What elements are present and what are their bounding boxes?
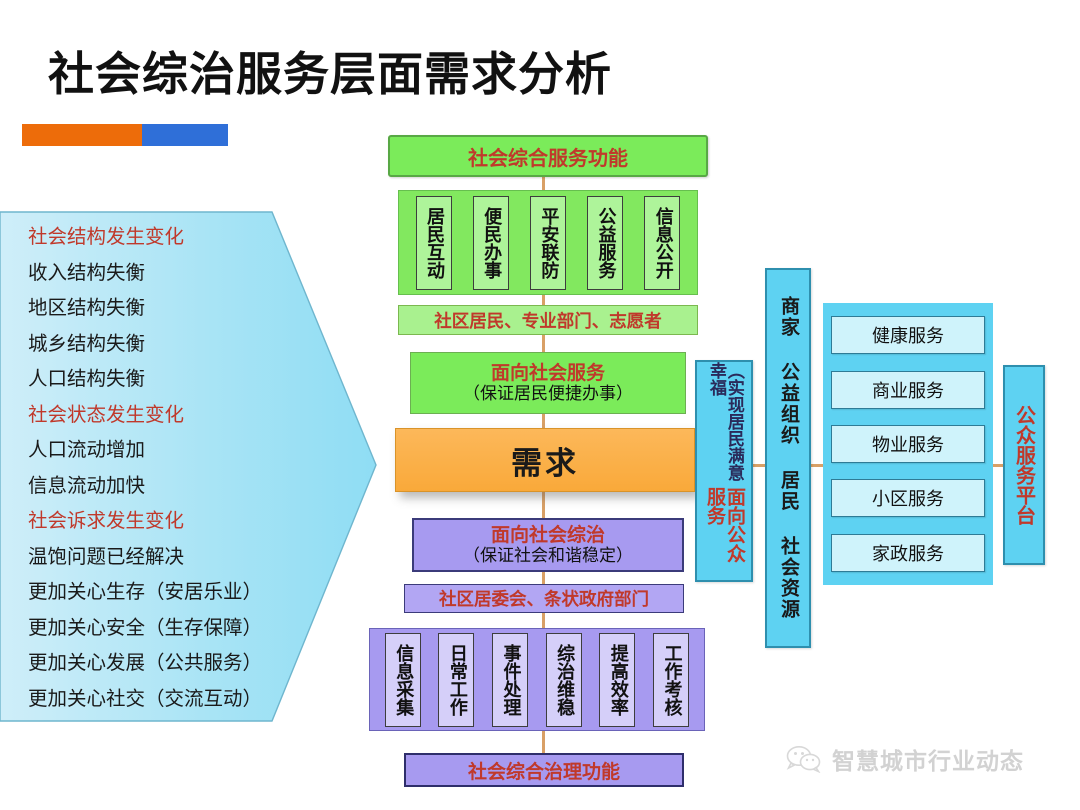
list-item: 社会结构发生变化 bbox=[28, 219, 318, 255]
governance-cells-strip: 信息采集 日常工作 事件处理 综治维稳 提高效率 工作考核 bbox=[369, 628, 705, 731]
governance-cell: 事件处理 bbox=[492, 633, 528, 727]
social-resources-column: 商家 公益组织 居民 社会资源 bbox=[765, 268, 811, 648]
service-item[interactable]: 健康服务 bbox=[831, 316, 985, 354]
accent-bar bbox=[22, 124, 228, 146]
watermark: 智慧城市行业动态 bbox=[786, 742, 1024, 776]
service-cells-strip: 居民互动 便民办事 平安联防 公益服务 信息公开 bbox=[398, 190, 698, 295]
list-item: 人口流动增加 bbox=[28, 432, 318, 468]
governance-cell: 综治维稳 bbox=[546, 633, 582, 727]
left-panel-list: 社会结构发生变化 收入结构失衡 地区结构失衡 城乡结构失衡 人口结构失衡 社会状… bbox=[28, 219, 318, 716]
service-actors-bar: 社区居民、专业部门、志愿者 bbox=[398, 305, 698, 335]
service-item[interactable]: 物业服务 bbox=[831, 425, 985, 463]
service-cell: 便民办事 bbox=[473, 196, 509, 290]
service-cell: 居民互动 bbox=[416, 196, 452, 290]
public-service-label: 面向公众服务 bbox=[704, 487, 744, 580]
service-item[interactable]: 家政服务 bbox=[831, 534, 985, 572]
service-cell: 平安联防 bbox=[530, 196, 566, 290]
page-title: 社会综治服务层面需求分析 bbox=[48, 38, 612, 104]
left-arrow-panel: 社会结构发生变化 收入结构失衡 地区结构失衡 城乡结构失衡 人口结构失衡 社会状… bbox=[0, 193, 380, 738]
connector-vertical bbox=[542, 177, 545, 191]
watermark-text: 智慧城市行业动态 bbox=[832, 742, 1024, 776]
public-service-column: （实现居民满意幸福 面向公众服务 bbox=[695, 360, 753, 582]
governance-actors-bar: 社区居委会、条状政府部门 bbox=[404, 584, 684, 613]
need-box: 需求 bbox=[395, 428, 695, 492]
governance-cell: 日常工作 bbox=[438, 633, 474, 727]
services-panel: 健康服务 商业服务 物业服务 小区服务 家政服务 bbox=[823, 303, 993, 585]
face-governance-subtitle: （保证社会和谐稳定） bbox=[463, 546, 633, 566]
service-cell: 信息公开 bbox=[644, 196, 680, 290]
list-item: 更加关心安全（生存保障） bbox=[28, 610, 318, 646]
service-cell: 公益服务 bbox=[587, 196, 623, 290]
public-service-paren: （实现居民满意幸福 bbox=[706, 362, 742, 487]
service-item[interactable]: 商业服务 bbox=[831, 371, 985, 409]
connector-vertical bbox=[542, 613, 545, 629]
face-governance-box: 面向社会综治 （保证社会和谐稳定） bbox=[412, 518, 684, 572]
service-item[interactable]: 小区服务 bbox=[831, 479, 985, 517]
governance-function-footer: 社会综合治理功能 bbox=[404, 753, 684, 787]
face-service-subtitle: （保证居民便捷办事） bbox=[463, 384, 633, 404]
list-item: 社会状态发生变化 bbox=[28, 397, 318, 433]
governance-cell: 信息采集 bbox=[385, 633, 421, 727]
accent-bar-orange-segment bbox=[22, 124, 142, 146]
connector-vertical bbox=[542, 731, 545, 754]
public-service-platform-column: 公众服务平台 bbox=[1003, 365, 1045, 565]
list-item: 社会诉求发生变化 bbox=[28, 503, 318, 539]
connector-vertical bbox=[542, 414, 545, 429]
list-item: 地区结构失衡 bbox=[28, 290, 318, 326]
wechat-icon bbox=[786, 745, 822, 773]
service-function-header: 社会综合服务功能 bbox=[388, 135, 708, 177]
connector-vertical bbox=[542, 492, 545, 519]
list-item: 更加关心生存（安居乐业） bbox=[28, 574, 318, 610]
face-service-box: 面向社会服务 （保证居民便捷办事） bbox=[410, 352, 686, 414]
connector-vertical bbox=[542, 335, 545, 353]
list-item: 更加关心发展（公共服务） bbox=[28, 645, 318, 681]
list-item: 人口结构失衡 bbox=[28, 361, 318, 397]
governance-cell: 工作考核 bbox=[653, 633, 689, 727]
face-governance-title: 面向社会综治 bbox=[491, 524, 605, 546]
governance-cell: 提高效率 bbox=[599, 633, 635, 727]
list-item: 城乡结构失衡 bbox=[28, 326, 318, 362]
diagram-canvas: 社会综治服务层面需求分析 社会结构发生变化 收入结构失衡 地区结构失衡 城乡结构… bbox=[0, 0, 1080, 810]
list-item: 温饱问题已经解决 bbox=[28, 539, 318, 575]
list-item: 更加关心社交（交流互动） bbox=[28, 681, 318, 717]
list-item: 信息流动加快 bbox=[28, 468, 318, 504]
accent-bar-blue-segment bbox=[142, 124, 228, 146]
face-service-title: 面向社会服务 bbox=[491, 362, 605, 384]
list-item: 收入结构失衡 bbox=[28, 255, 318, 291]
